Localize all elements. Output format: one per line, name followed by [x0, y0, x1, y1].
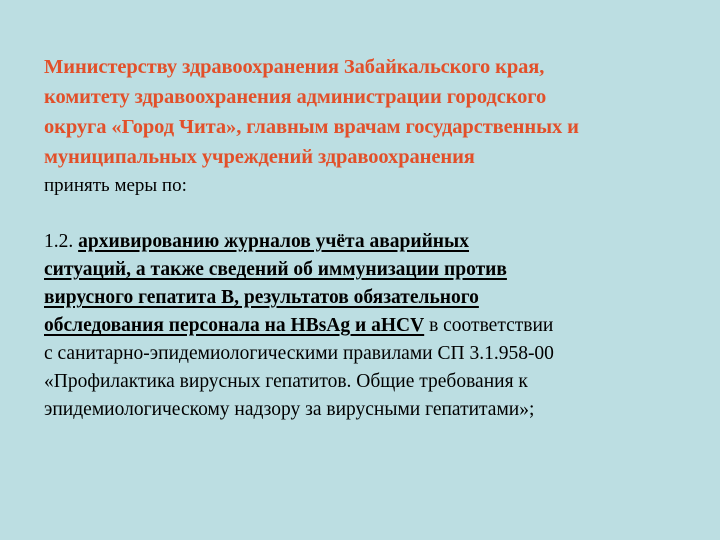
- paragraph-spacer: [44, 200, 696, 228]
- heading-block: Министерству здравоохранения Забайкальск…: [44, 52, 696, 172]
- item-number: 1.2.: [44, 231, 73, 252]
- body-block: 1.2. архивированию журналов учёта аварий…: [44, 228, 696, 424]
- heading-line-1: Министерству здравоохранения Забайкальск…: [44, 52, 696, 82]
- body-line-7-plain: эпидемиологическому надзору за вирусными…: [44, 399, 534, 420]
- slide-canvas: Министерству здравоохранения Забайкальск…: [0, 0, 720, 540]
- heading-line-4: муниципальных учреждений здравоохранения: [44, 142, 696, 172]
- heading-line-3: округа «Город Чита», главным врачам госу…: [44, 112, 696, 142]
- body-line-1-emphasis: архивированию журналов учёта аварийных: [78, 231, 469, 252]
- heading-line-2: комитету здравоохранения администрации г…: [44, 82, 696, 112]
- slide-content: Министерству здравоохранения Забайкальск…: [44, 52, 696, 424]
- body-line-6-plain: «Профилактика вирусных гепатитов. Общие …: [44, 371, 528, 392]
- body-line-4-plain: в соответствии: [424, 315, 553, 336]
- body-line-6: «Профилактика вирусных гепатитов. Общие …: [44, 368, 696, 396]
- body-line-3-emphasis: вирусного гепатита В, результатов обязат…: [44, 287, 479, 308]
- body-line-5-plain: с санитарно-эпидемиологическими правилам…: [44, 343, 554, 364]
- body-line-2: ситуаций, а также сведений об иммунизаци…: [44, 256, 696, 284]
- body-line-3: вирусного гепатита В, результатов обязат…: [44, 284, 696, 312]
- body-line-5: с санитарно-эпидемиологическими правилам…: [44, 340, 696, 368]
- body-line-7: эпидемиологическому надзору за вирусными…: [44, 396, 696, 424]
- body-line-4-emphasis: обследования персонала на HBsAg и aHCV: [44, 315, 424, 336]
- body-line-1: 1.2. архивированию журналов учёта аварий…: [44, 228, 696, 256]
- subheading-line: принять меры по:: [44, 172, 696, 200]
- body-line-2-emphasis: ситуаций, а также сведений об иммунизаци…: [44, 259, 507, 280]
- body-line-4: обследования персонала на HBsAg и aHCV в…: [44, 312, 696, 340]
